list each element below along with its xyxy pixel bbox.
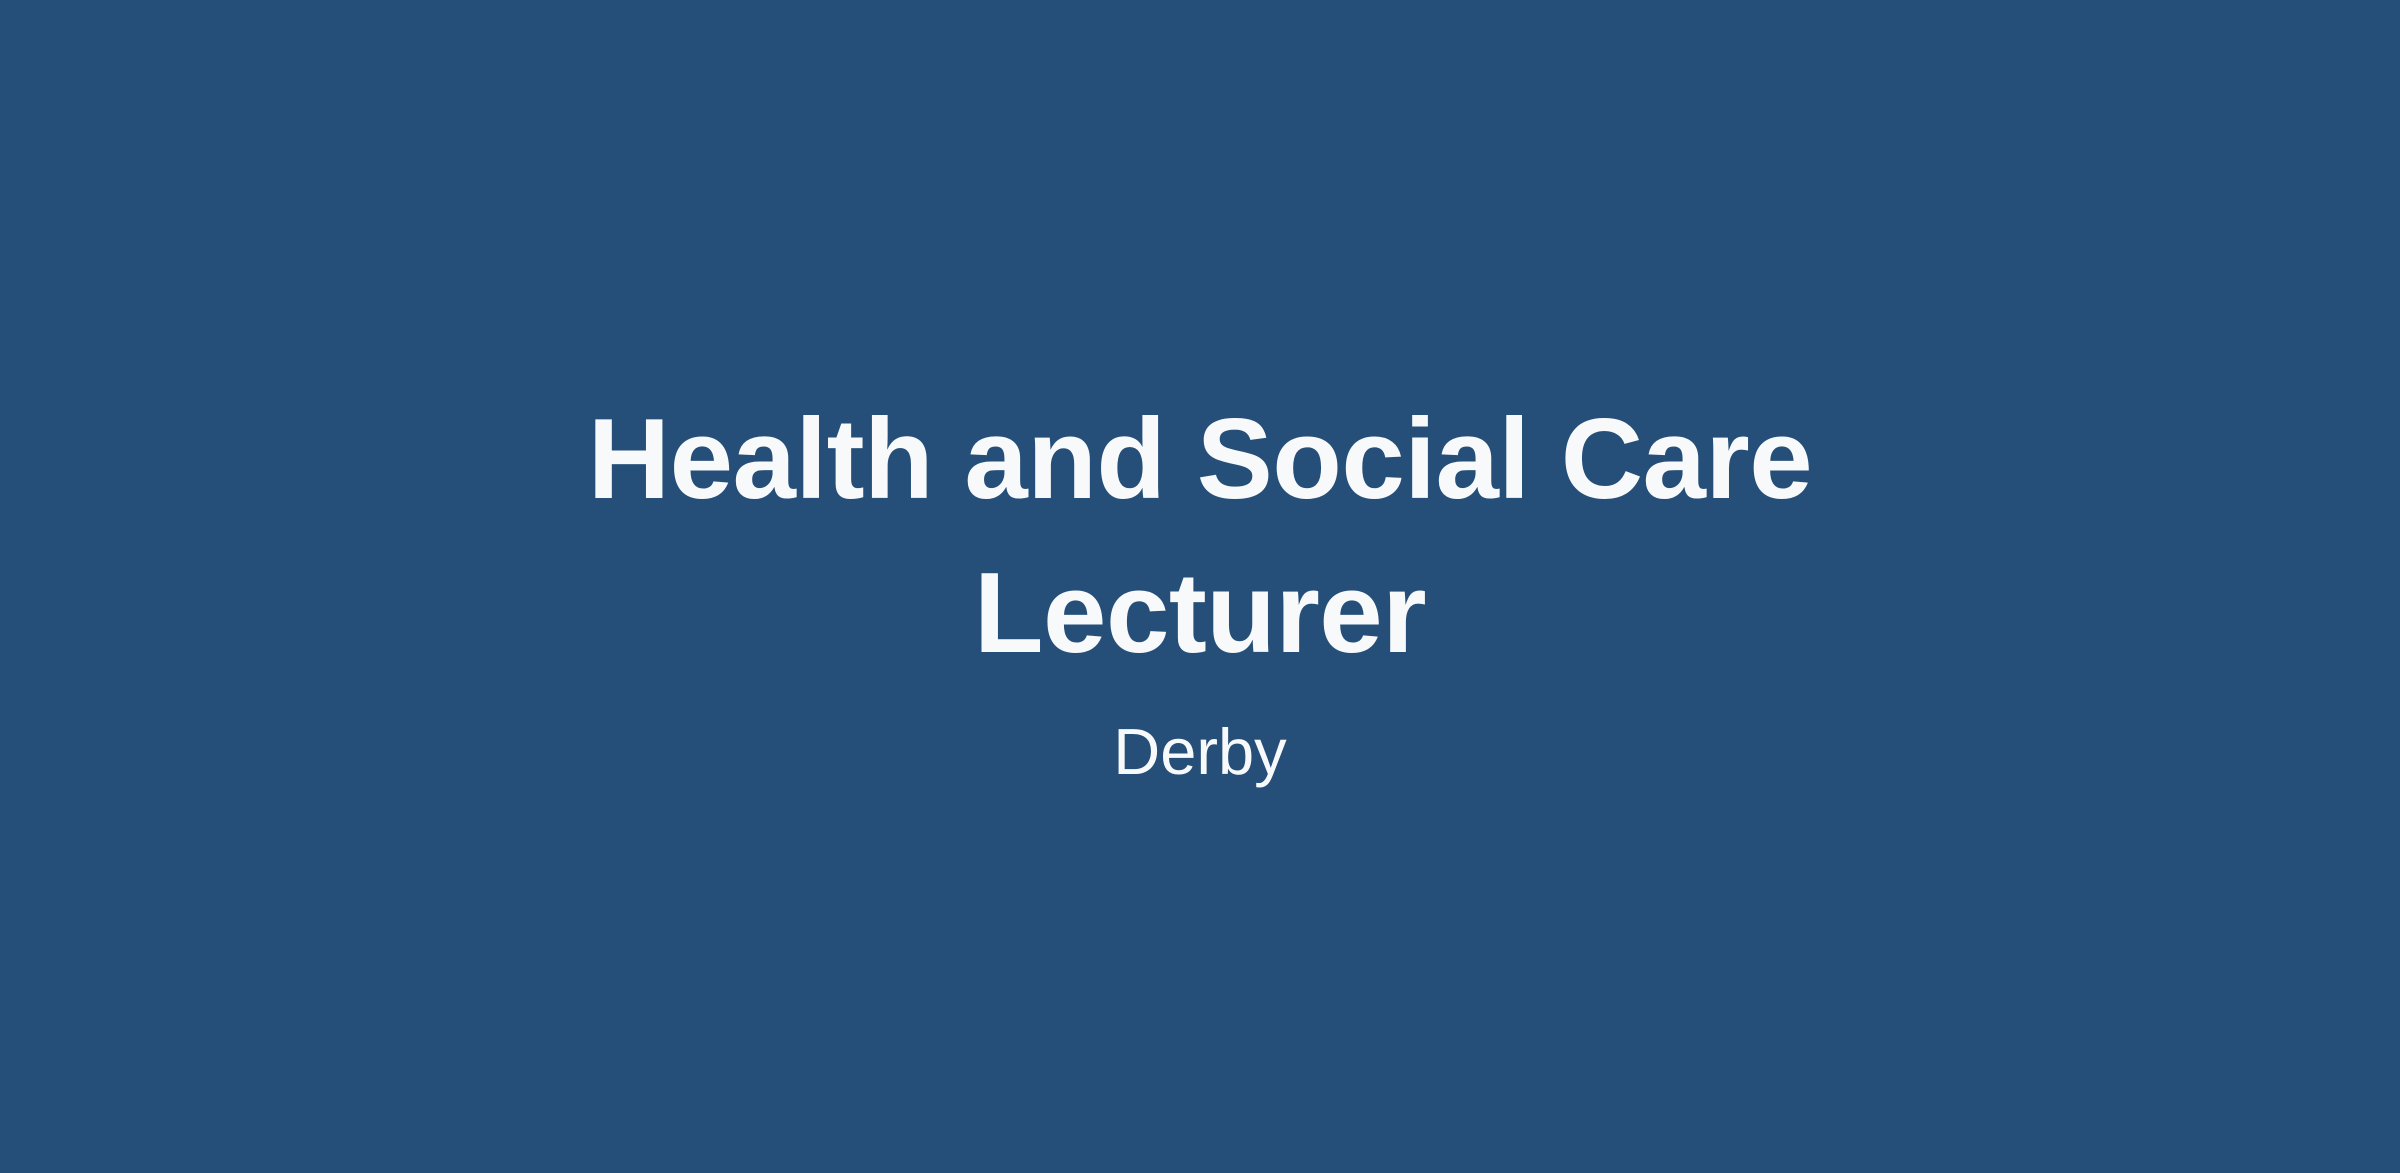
job-hero-banner: Health and Social Care Lecturer Derby	[0, 0, 2400, 1173]
hero-text-block: Health and Social Care Lecturer Derby	[0, 383, 2400, 791]
job-title: Health and Social Care Lecturer	[535, 383, 1865, 691]
job-location: Derby	[1113, 713, 1286, 791]
